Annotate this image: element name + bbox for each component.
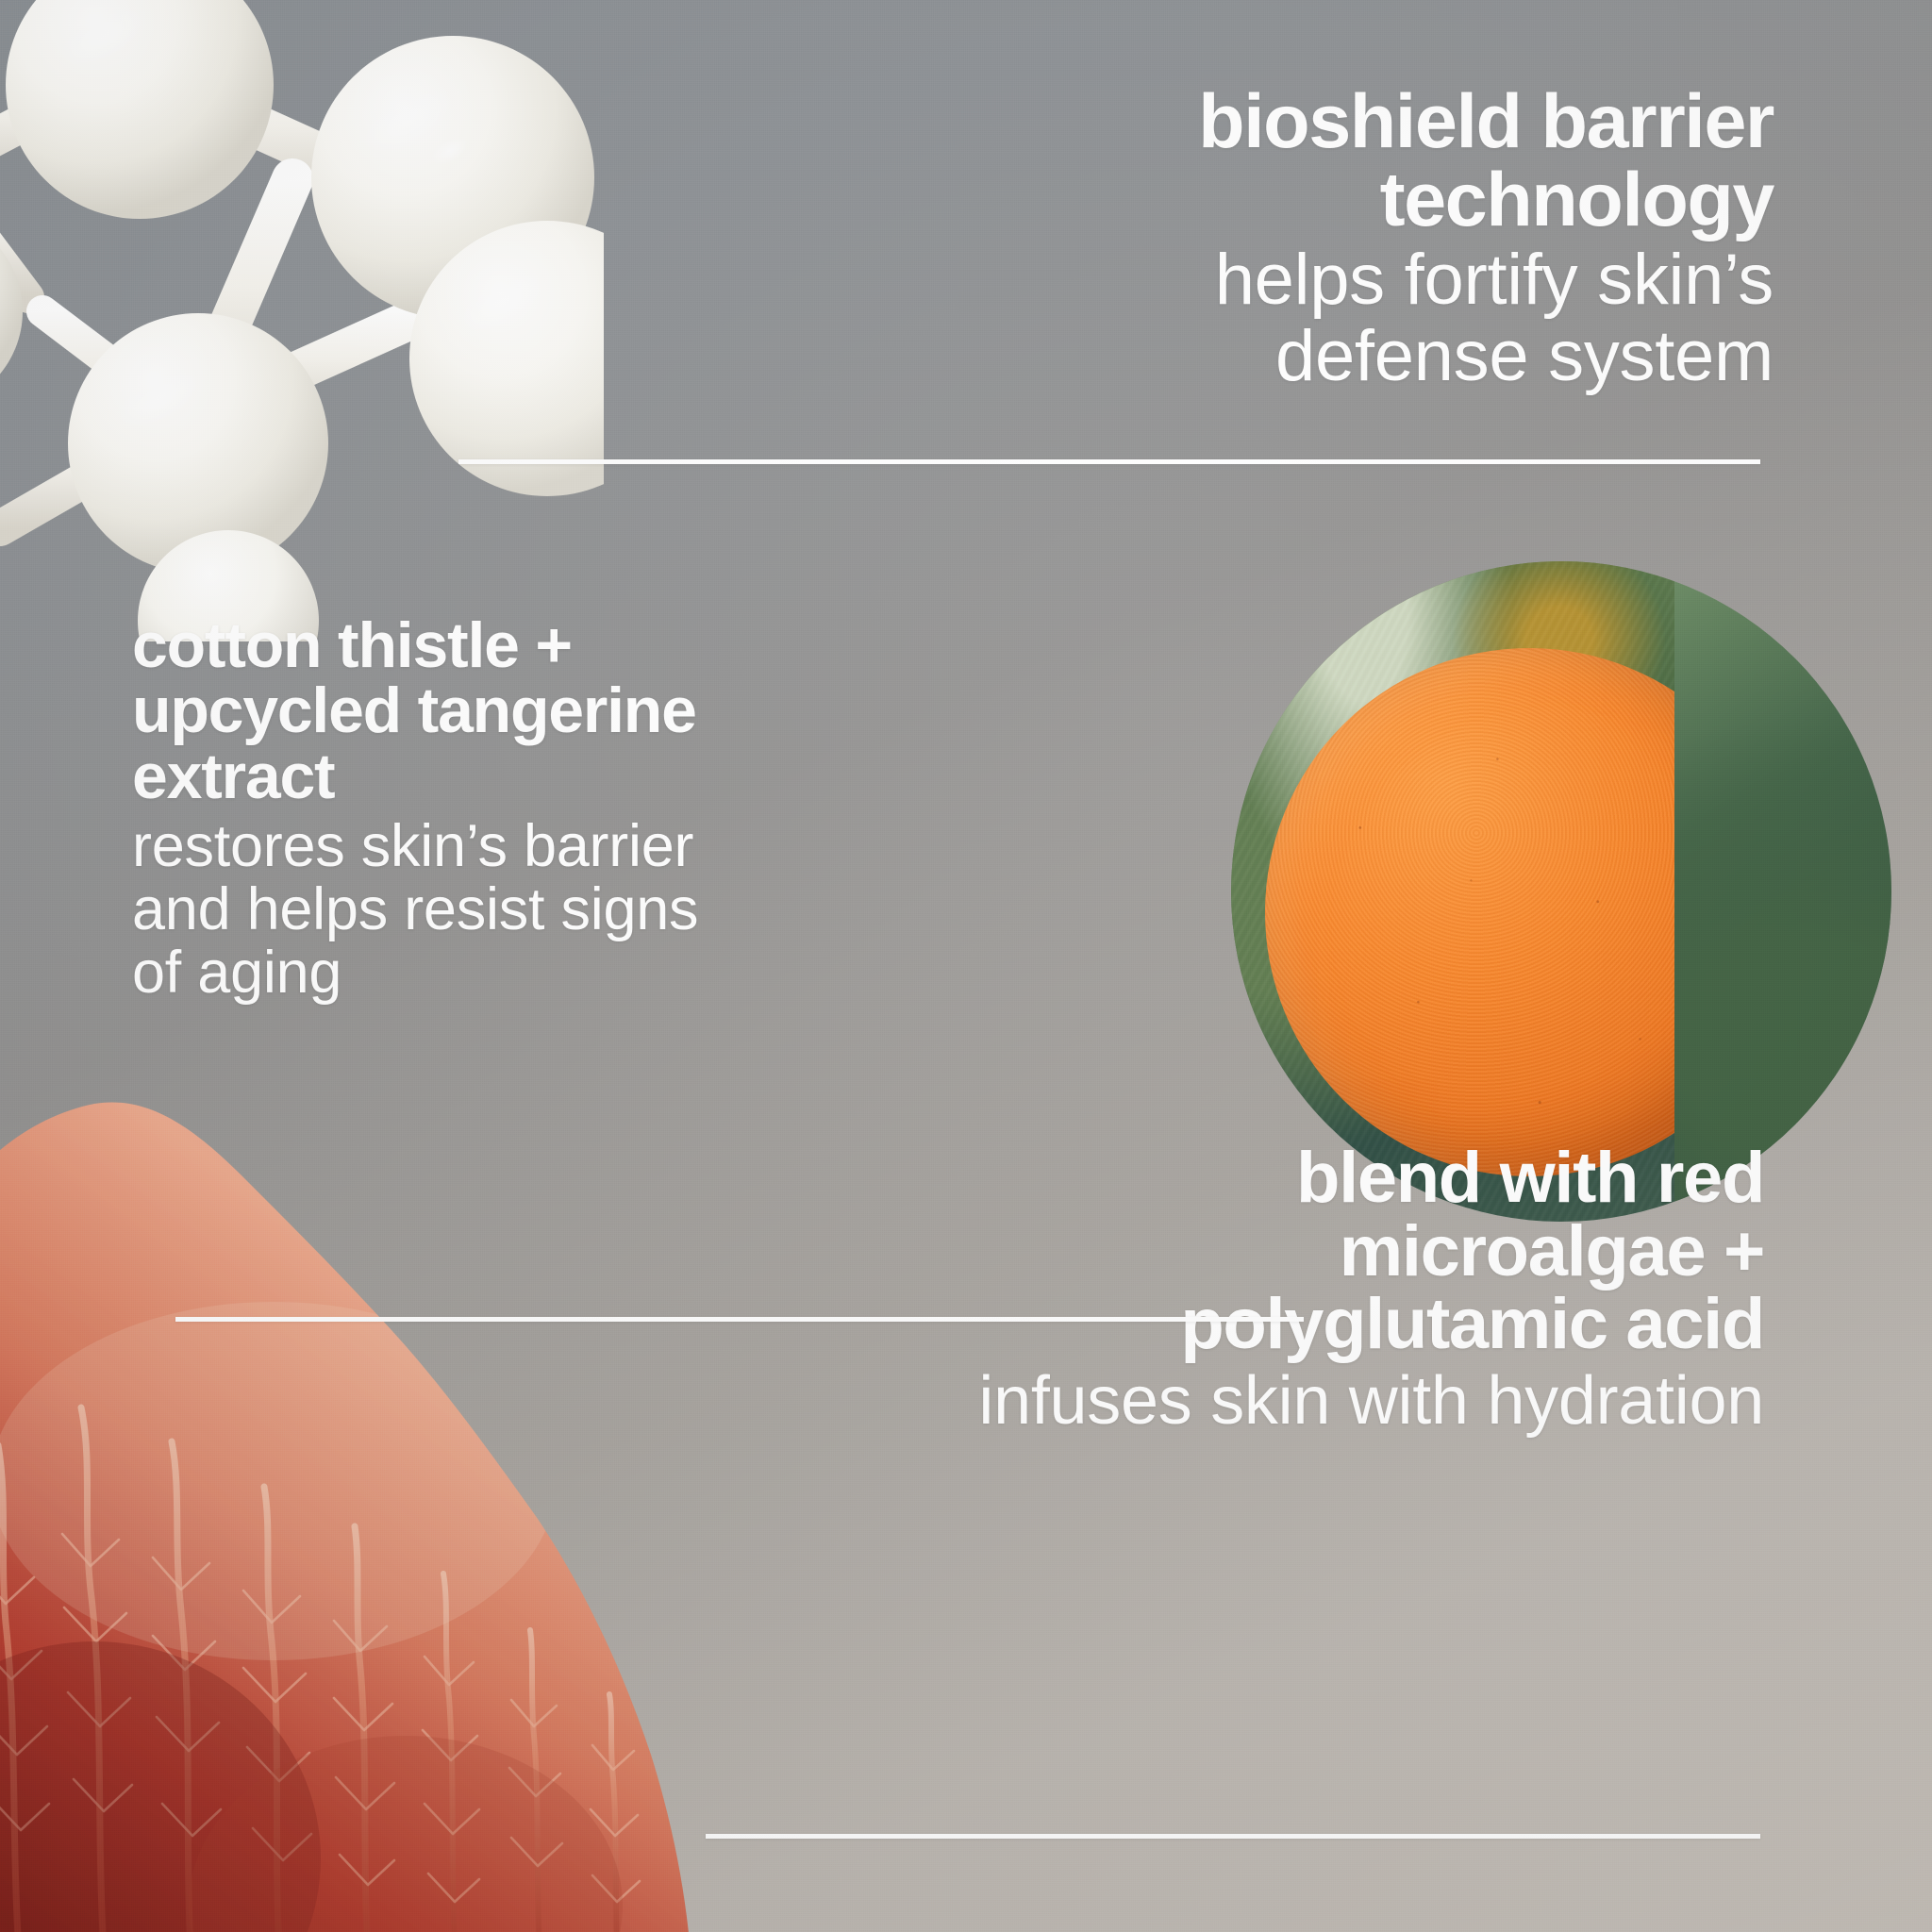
thistle-subline-line3: of aging [132, 941, 811, 1005]
bioshield-subline: helps fortify skin’s defense system [830, 242, 1774, 394]
bioshield-headline: bioshield barrier technology [830, 83, 1774, 239]
molecule-model-illustration [0, 0, 604, 641]
infographic-canvas: bioshield barrier technology helps forti… [0, 0, 1932, 1932]
thistle-headline-line1: cotton thistle + [132, 613, 811, 678]
algae-subline-line1: infuses skin with hydration [736, 1365, 1764, 1437]
thistle-subline-line1: restores skin’s barrier [132, 815, 811, 878]
algae-headline-line3: polyglutamic acid [736, 1288, 1764, 1361]
feature-bioshield-barrier: bioshield barrier technology helps forti… [830, 83, 1774, 394]
thistle-headline-line2: upcycled tangerine [132, 678, 811, 743]
divider-rule-top [458, 459, 1760, 464]
thistle-headline-line3: extract [132, 744, 811, 809]
cotton-thistle-flower-photo [1674, 561, 1891, 1222]
thistle-headline: cotton thistle + upcycled tangerine extr… [132, 613, 811, 809]
feature-red-microalgae-pga: blend with red microalgae + polyglutamic… [736, 1141, 1764, 1437]
divider-rule-bottom [706, 1834, 1760, 1839]
bioshield-subline-line1: helps fortify skin’s [830, 242, 1774, 319]
bioshield-headline-line2: technology [830, 161, 1774, 240]
bioshield-subline-line2: defense system [830, 319, 1774, 395]
feature-cotton-thistle-tangerine: cotton thistle + upcycled tangerine extr… [132, 613, 811, 1004]
bioshield-headline-line1: bioshield barrier [830, 83, 1774, 161]
algae-headline-line2: microalgae + [736, 1215, 1764, 1289]
algae-headline: blend with red microalgae + polyglutamic… [736, 1141, 1764, 1361]
upcycled-tangerine-photo [1231, 561, 1674, 1222]
algae-subline: infuses skin with hydration [736, 1365, 1764, 1437]
algae-headline-line1: blend with red [736, 1141, 1764, 1215]
thistle-subline-line2: and helps resist signs [132, 878, 811, 941]
red-microalgae-photo [0, 1075, 736, 1932]
thistle-subline: restores skin’s barrier and helps resist… [132, 815, 811, 1004]
split-ingredient-circle [1231, 561, 1891, 1222]
divider-rule-middle [175, 1317, 1304, 1322]
